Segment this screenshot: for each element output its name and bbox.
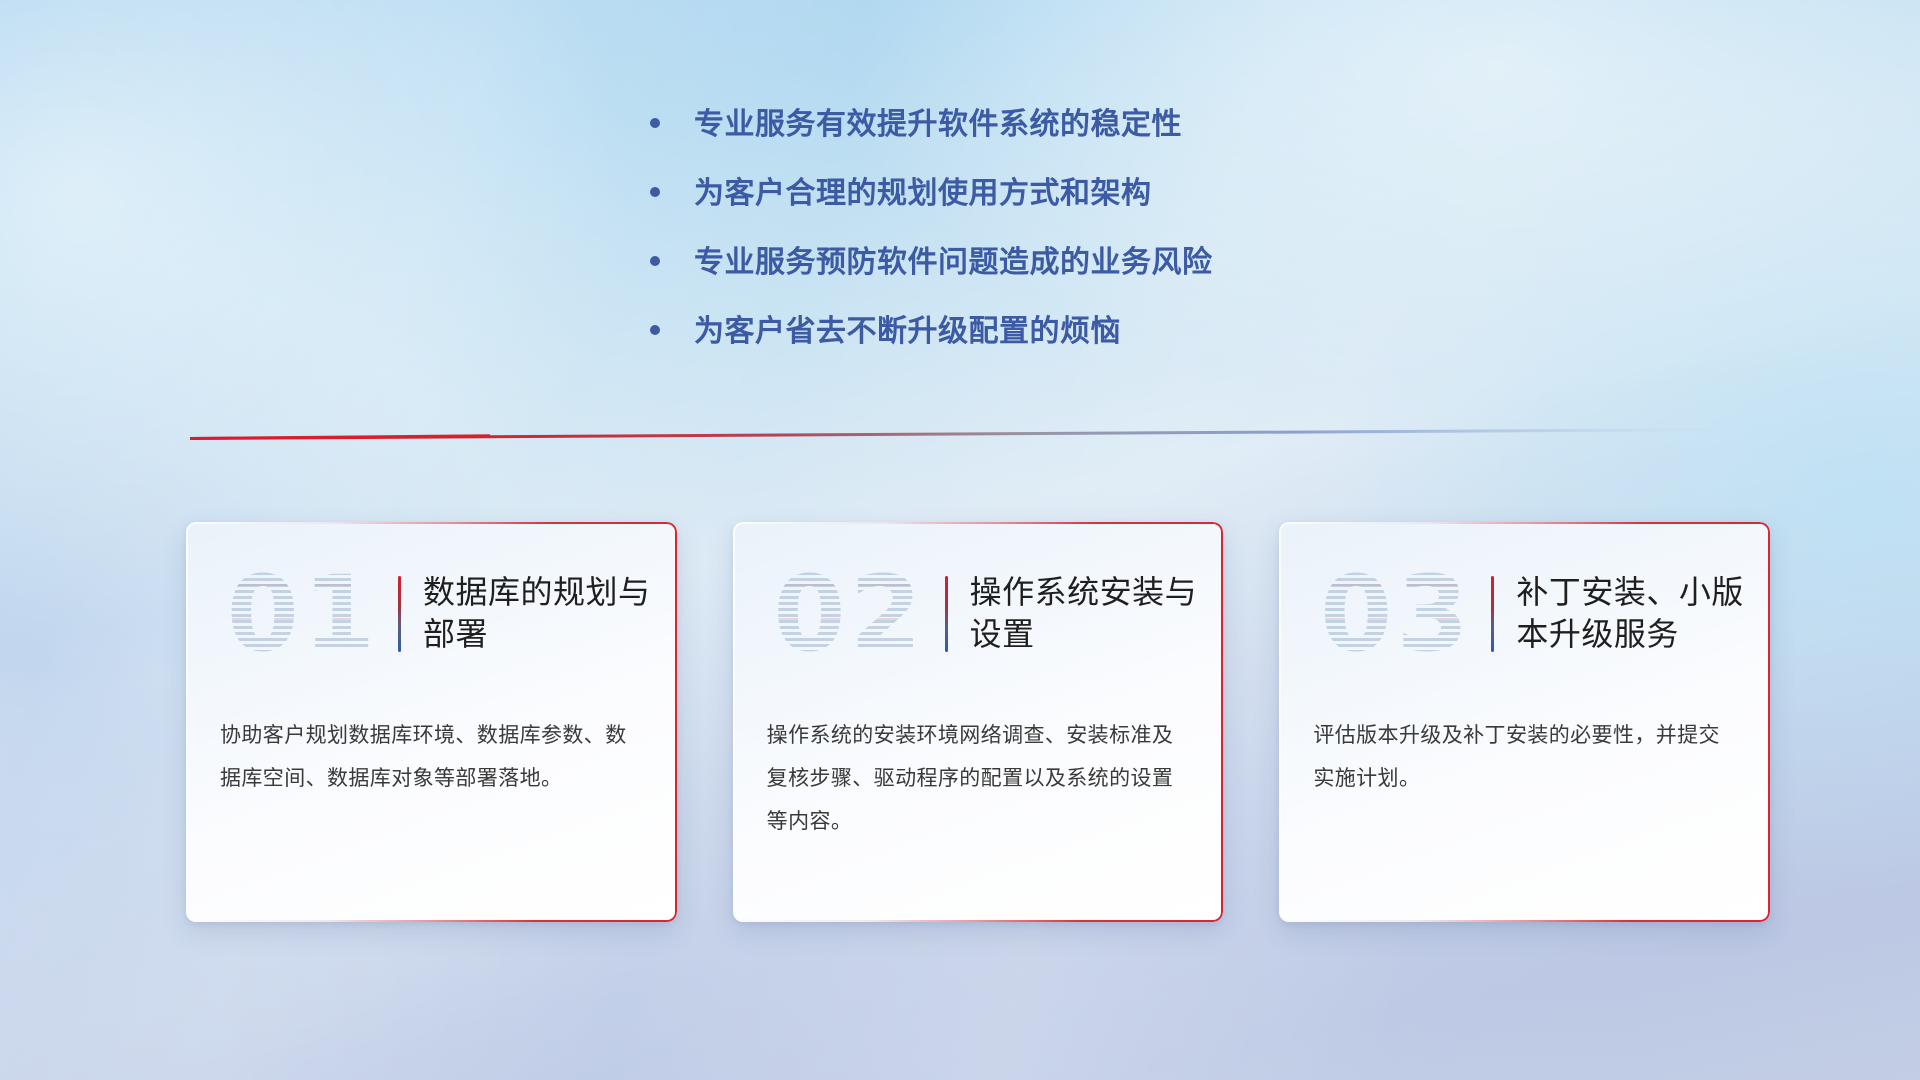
- service-card-row: 01 01 数据库的规划与部署 协助客户规划数据库环境、数据库参数、数据库空间、…: [186, 522, 1770, 922]
- bullet-dot-icon: [650, 118, 660, 128]
- bullet-dot-icon: [650, 325, 660, 335]
- bullet-text: 专业服务有效提升软件系统的稳定性: [694, 108, 1182, 141]
- card-title: 数据库的规划与部署: [423, 572, 651, 655]
- list-item: 为客户合理的规划使用方式和架构: [650, 177, 1213, 210]
- service-card-03[interactable]: 03 03 补丁安装、小版本升级服务 评估版本升级及补丁安装的必要性，并提交实施…: [1279, 522, 1770, 922]
- section-divider: [190, 424, 1730, 442]
- card-description: 协助客户规划数据库环境、数据库参数、数据库空间、数据库对象等部署落地。: [186, 706, 677, 800]
- title-accent-bar: [398, 576, 401, 652]
- card-description: 评估版本升级及补丁安装的必要性，并提交实施计划。: [1279, 706, 1770, 800]
- watermark-number-tint: 02: [757, 554, 943, 674]
- card-header: 03 03 补丁安装、小版本升级服务: [1279, 522, 1770, 706]
- slide-canvas: 专业服务有效提升软件系统的稳定性 为客户合理的规划使用方式和架构 专业服务预防软…: [0, 0, 1920, 1080]
- bullet-text: 为客户省去不断升级配置的烦恼: [694, 315, 1121, 348]
- card-number-watermark: 01 01: [210, 554, 396, 674]
- bullet-dot-icon: [650, 187, 660, 197]
- card-header: 01 01 数据库的规划与部署: [186, 522, 677, 706]
- service-card-02[interactable]: 02 02 操作系统安装与设置 操作系统的安装环境网络调查、安装标准及复核步骤、…: [733, 522, 1224, 922]
- card-description: 操作系统的安装环境网络调查、安装标准及复核步骤、驱动程序的配置以及系统的设置等内…: [733, 706, 1224, 843]
- watermark-number-tint: 03: [1303, 554, 1489, 674]
- list-item: 专业服务有效提升软件系统的稳定性: [650, 108, 1213, 141]
- benefits-bullet-list: 专业服务有效提升软件系统的稳定性 为客户合理的规划使用方式和架构 专业服务预防软…: [650, 108, 1213, 384]
- card-number-watermark: 02 02: [757, 554, 943, 674]
- service-card-01[interactable]: 01 01 数据库的规划与部署 协助客户规划数据库环境、数据库参数、数据库空间、…: [186, 522, 677, 922]
- card-title: 补丁安装、小版本升级服务: [1516, 572, 1744, 655]
- bullet-text: 为客户合理的规划使用方式和架构: [694, 177, 1152, 210]
- card-number-watermark: 03 03: [1303, 554, 1489, 674]
- title-accent-bar: [945, 576, 948, 652]
- bullet-dot-icon: [650, 256, 660, 266]
- list-item: 专业服务预防软件问题造成的业务风险: [650, 246, 1213, 279]
- card-header: 02 02 操作系统安装与设置: [733, 522, 1224, 706]
- list-item: 为客户省去不断升级配置的烦恼: [650, 315, 1213, 348]
- divider-wedge-icon: [190, 424, 1730, 442]
- watermark-number-tint: 01: [210, 554, 396, 674]
- title-accent-bar: [1491, 576, 1494, 652]
- bullet-text: 专业服务预防软件问题造成的业务风险: [694, 246, 1213, 279]
- card-title: 操作系统安装与设置: [970, 572, 1198, 655]
